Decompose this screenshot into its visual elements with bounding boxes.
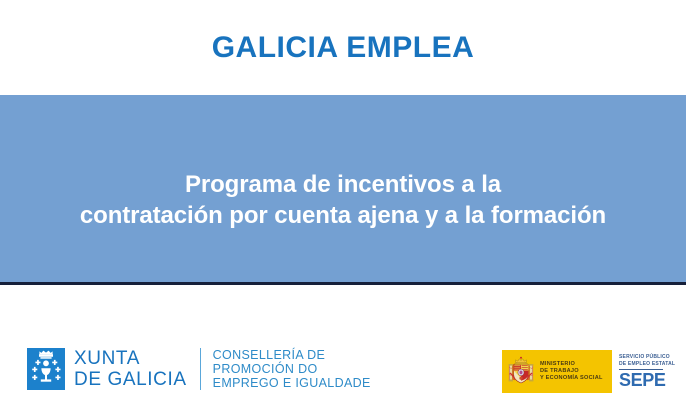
page-title: GALICIA EMPLEA xyxy=(212,33,475,63)
logo-divider xyxy=(200,348,201,390)
program-banner: Programa de incentivos a la contratación… xyxy=(0,95,686,285)
spain-coat-of-arms-icon xyxy=(508,356,534,387)
xunta-de-galicia-logo: XUNTA DE GALICIA CONSELLERÍA DE PROMOCIÓ… xyxy=(27,348,371,390)
ministerio-line-3: Y ECONOMÍA SOCIAL xyxy=(540,375,603,382)
banner-line-1: Programa de incentivos a la xyxy=(80,169,606,200)
conselleria-line-1: CONSELLERÍA DE xyxy=(213,348,371,362)
ministerio-line-2: DE TRABAJO xyxy=(540,368,603,375)
xunta-name-line-2: DE GALICIA xyxy=(74,369,187,390)
sepe-logo: SERVICIO PÚBLICO DE EMPLEO ESTATAL SEPE xyxy=(614,350,672,393)
header-band: GALICIA EMPLEA xyxy=(0,0,686,95)
xunta-coat-of-arms-icon xyxy=(27,348,65,390)
conselleria-line-2: PROMOCIÓN DO xyxy=(213,362,371,376)
poster-root: GALICIA EMPLEA Programa de incentivos a … xyxy=(0,0,686,410)
conselleria-line-3: EMPREGO E IGUALDADE xyxy=(213,376,371,390)
conselleria-wordmark: CONSELLERÍA DE PROMOCIÓN DO EMPREGO E IG… xyxy=(213,348,371,390)
ministerio-line-1: MINISTERIO xyxy=(540,361,603,368)
sepe-wordmark: SEPE xyxy=(619,371,665,389)
banner-text-block: Programa de incentivos a la contratación… xyxy=(80,169,606,231)
xunta-wordmark: XUNTA DE GALICIA xyxy=(74,348,187,390)
ministerio-wordmark: MINISTERIO DE TRABAJO Y ECONOMÍA SOCIAL xyxy=(540,361,603,382)
ministerio-de-trabajo-logo: MINISTERIO DE TRABAJO Y ECONOMÍA SOCIAL xyxy=(502,350,612,393)
sepe-line-2: DE EMPLEO ESTATAL xyxy=(619,361,675,367)
banner-line-2: contratación por cuenta ajena y a la for… xyxy=(80,200,606,231)
xunta-name-line-1: XUNTA xyxy=(74,348,187,369)
